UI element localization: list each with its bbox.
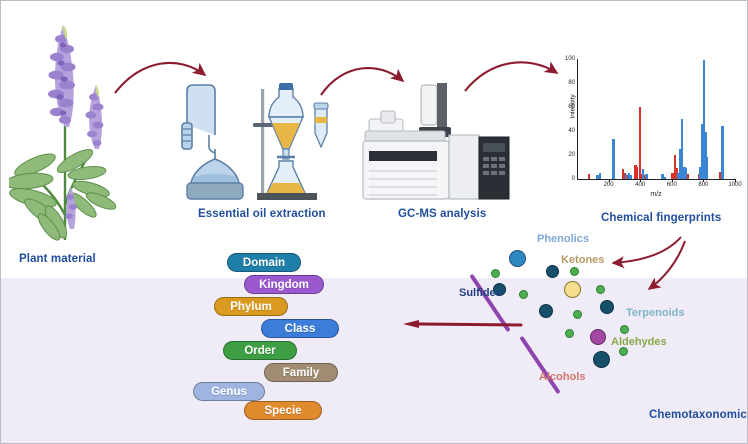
caption-gcms: GC-MS analysis — [398, 208, 486, 220]
caption-markers: Chemotaxonomic markers — [649, 409, 748, 421]
caption-extraction: Essential oil extraction — [198, 208, 326, 220]
caption-plant: Plant material — [19, 253, 96, 265]
stage-captions: Plant materialEssential oil extractionGC… — [1, 1, 748, 444]
figure-panel: Intensity 020406080100 2004006008001000 … — [0, 0, 748, 444]
caption-fingerprint: Chemical fingerprints — [601, 212, 721, 224]
